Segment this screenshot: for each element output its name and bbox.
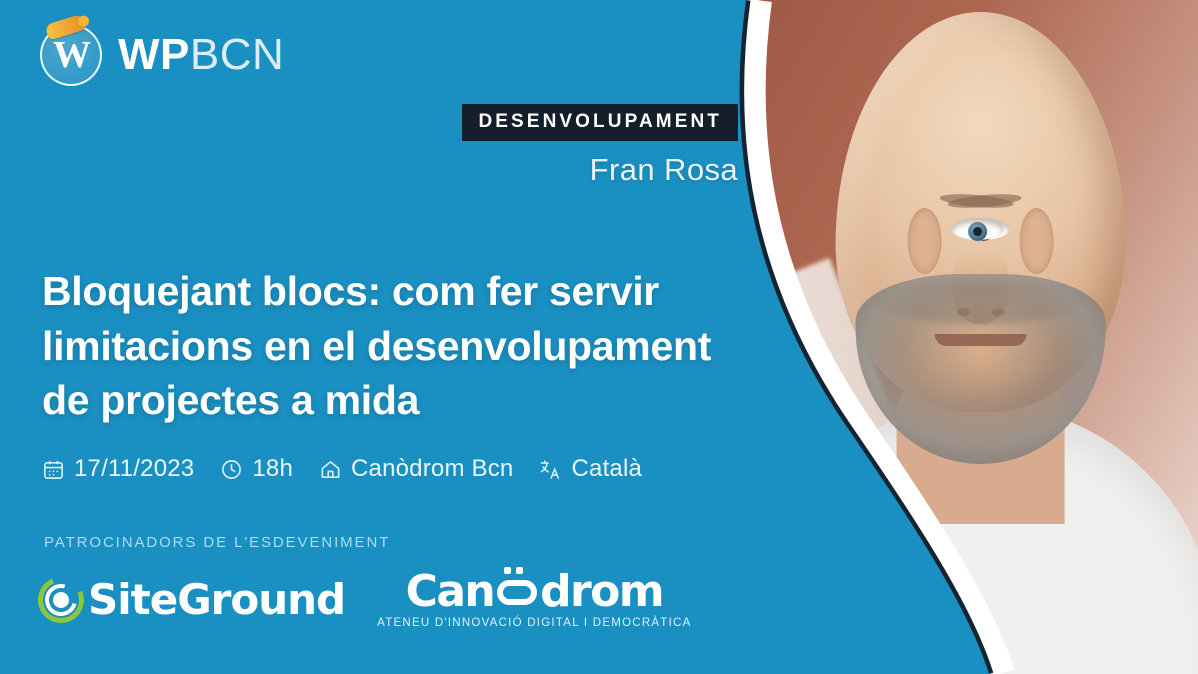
spiral-core [53, 592, 69, 608]
detail-date: 17/11/2023 [42, 455, 194, 483]
iris-right [968, 222, 987, 241]
detail-time-label: 18h [252, 455, 293, 483]
calendar-icon [42, 458, 65, 481]
talk-title-line-3: de projectes a mida [42, 373, 812, 428]
detail-venue-label: Canòdrom Bcn [351, 455, 513, 483]
speaker-name: Fran Rosa [590, 152, 738, 188]
event-promo-slide: W WPBCN DESENVOLUPAMENT Fran Rosa Bloque… [0, 0, 1198, 674]
talk-title-line-1: Bloquejant blocs: com fer servir [42, 264, 812, 319]
pupil-right [973, 227, 982, 236]
canodrom-text-after: drom [540, 570, 663, 614]
wpbcn-wordmark: WPBCN [118, 33, 284, 77]
canodrom-wordmark: Can drom [406, 570, 663, 614]
talk-title: Bloquejant blocs: com fer servir limitac… [42, 264, 812, 428]
canodrom-text-before: Can [406, 570, 495, 614]
ear-left [908, 208, 942, 274]
detail-time: 18h [220, 455, 293, 483]
mouth [935, 334, 1027, 346]
eye-right [952, 218, 1004, 240]
siteground-wordmark: SiteGround [88, 575, 345, 624]
detail-date-label: 17/11/2023 [74, 455, 194, 483]
speaker-portrait-figure [761, 0, 1198, 674]
head [836, 12, 1126, 412]
sponsor-siteground[interactable]: SiteGround [38, 575, 345, 624]
canodrom-tagline: ATENEU D'INNOVACIÓ DIGITAL I DEMOCRÀTICA [377, 617, 691, 629]
wordmark-wp: WP [118, 30, 190, 79]
siteground-spiral-icon [38, 577, 84, 623]
o-dot-left [504, 567, 511, 574]
detail-language: Català [539, 455, 642, 483]
sponsor-logos: SiteGround Can drom ATENEU D'INNOVACIÓ D… [38, 570, 692, 629]
o-dot-right [516, 567, 523, 574]
detail-venue: Canòdrom Bcn [319, 455, 513, 483]
translate-icon [539, 458, 562, 481]
talk-title-line-2: limitacions en el desenvolupament [42, 319, 812, 374]
wordmark-bcn: BCN [190, 30, 284, 79]
detail-language-label: Català [571, 455, 642, 483]
session-details: 17/11/2023 18h Canòdrom Bcn [42, 455, 642, 483]
wpbcn-logo[interactable]: W WPBCN [40, 24, 284, 86]
sponsors-heading: PATROCINADORS DE L'ESDEVENIMENT [44, 534, 390, 551]
clock-icon [220, 458, 243, 481]
sponsor-canodrom[interactable]: Can drom ATENEU D'INNOVACIÓ DIGITAL I DE… [377, 570, 691, 629]
home-icon [319, 458, 342, 481]
ear-right [1020, 208, 1054, 274]
canodrom-o-icon [497, 580, 537, 605]
track-badge: DESENVOLUPAMENT [462, 104, 738, 141]
o-pill [497, 580, 537, 605]
wordpress-logo-icon: W [40, 24, 102, 86]
